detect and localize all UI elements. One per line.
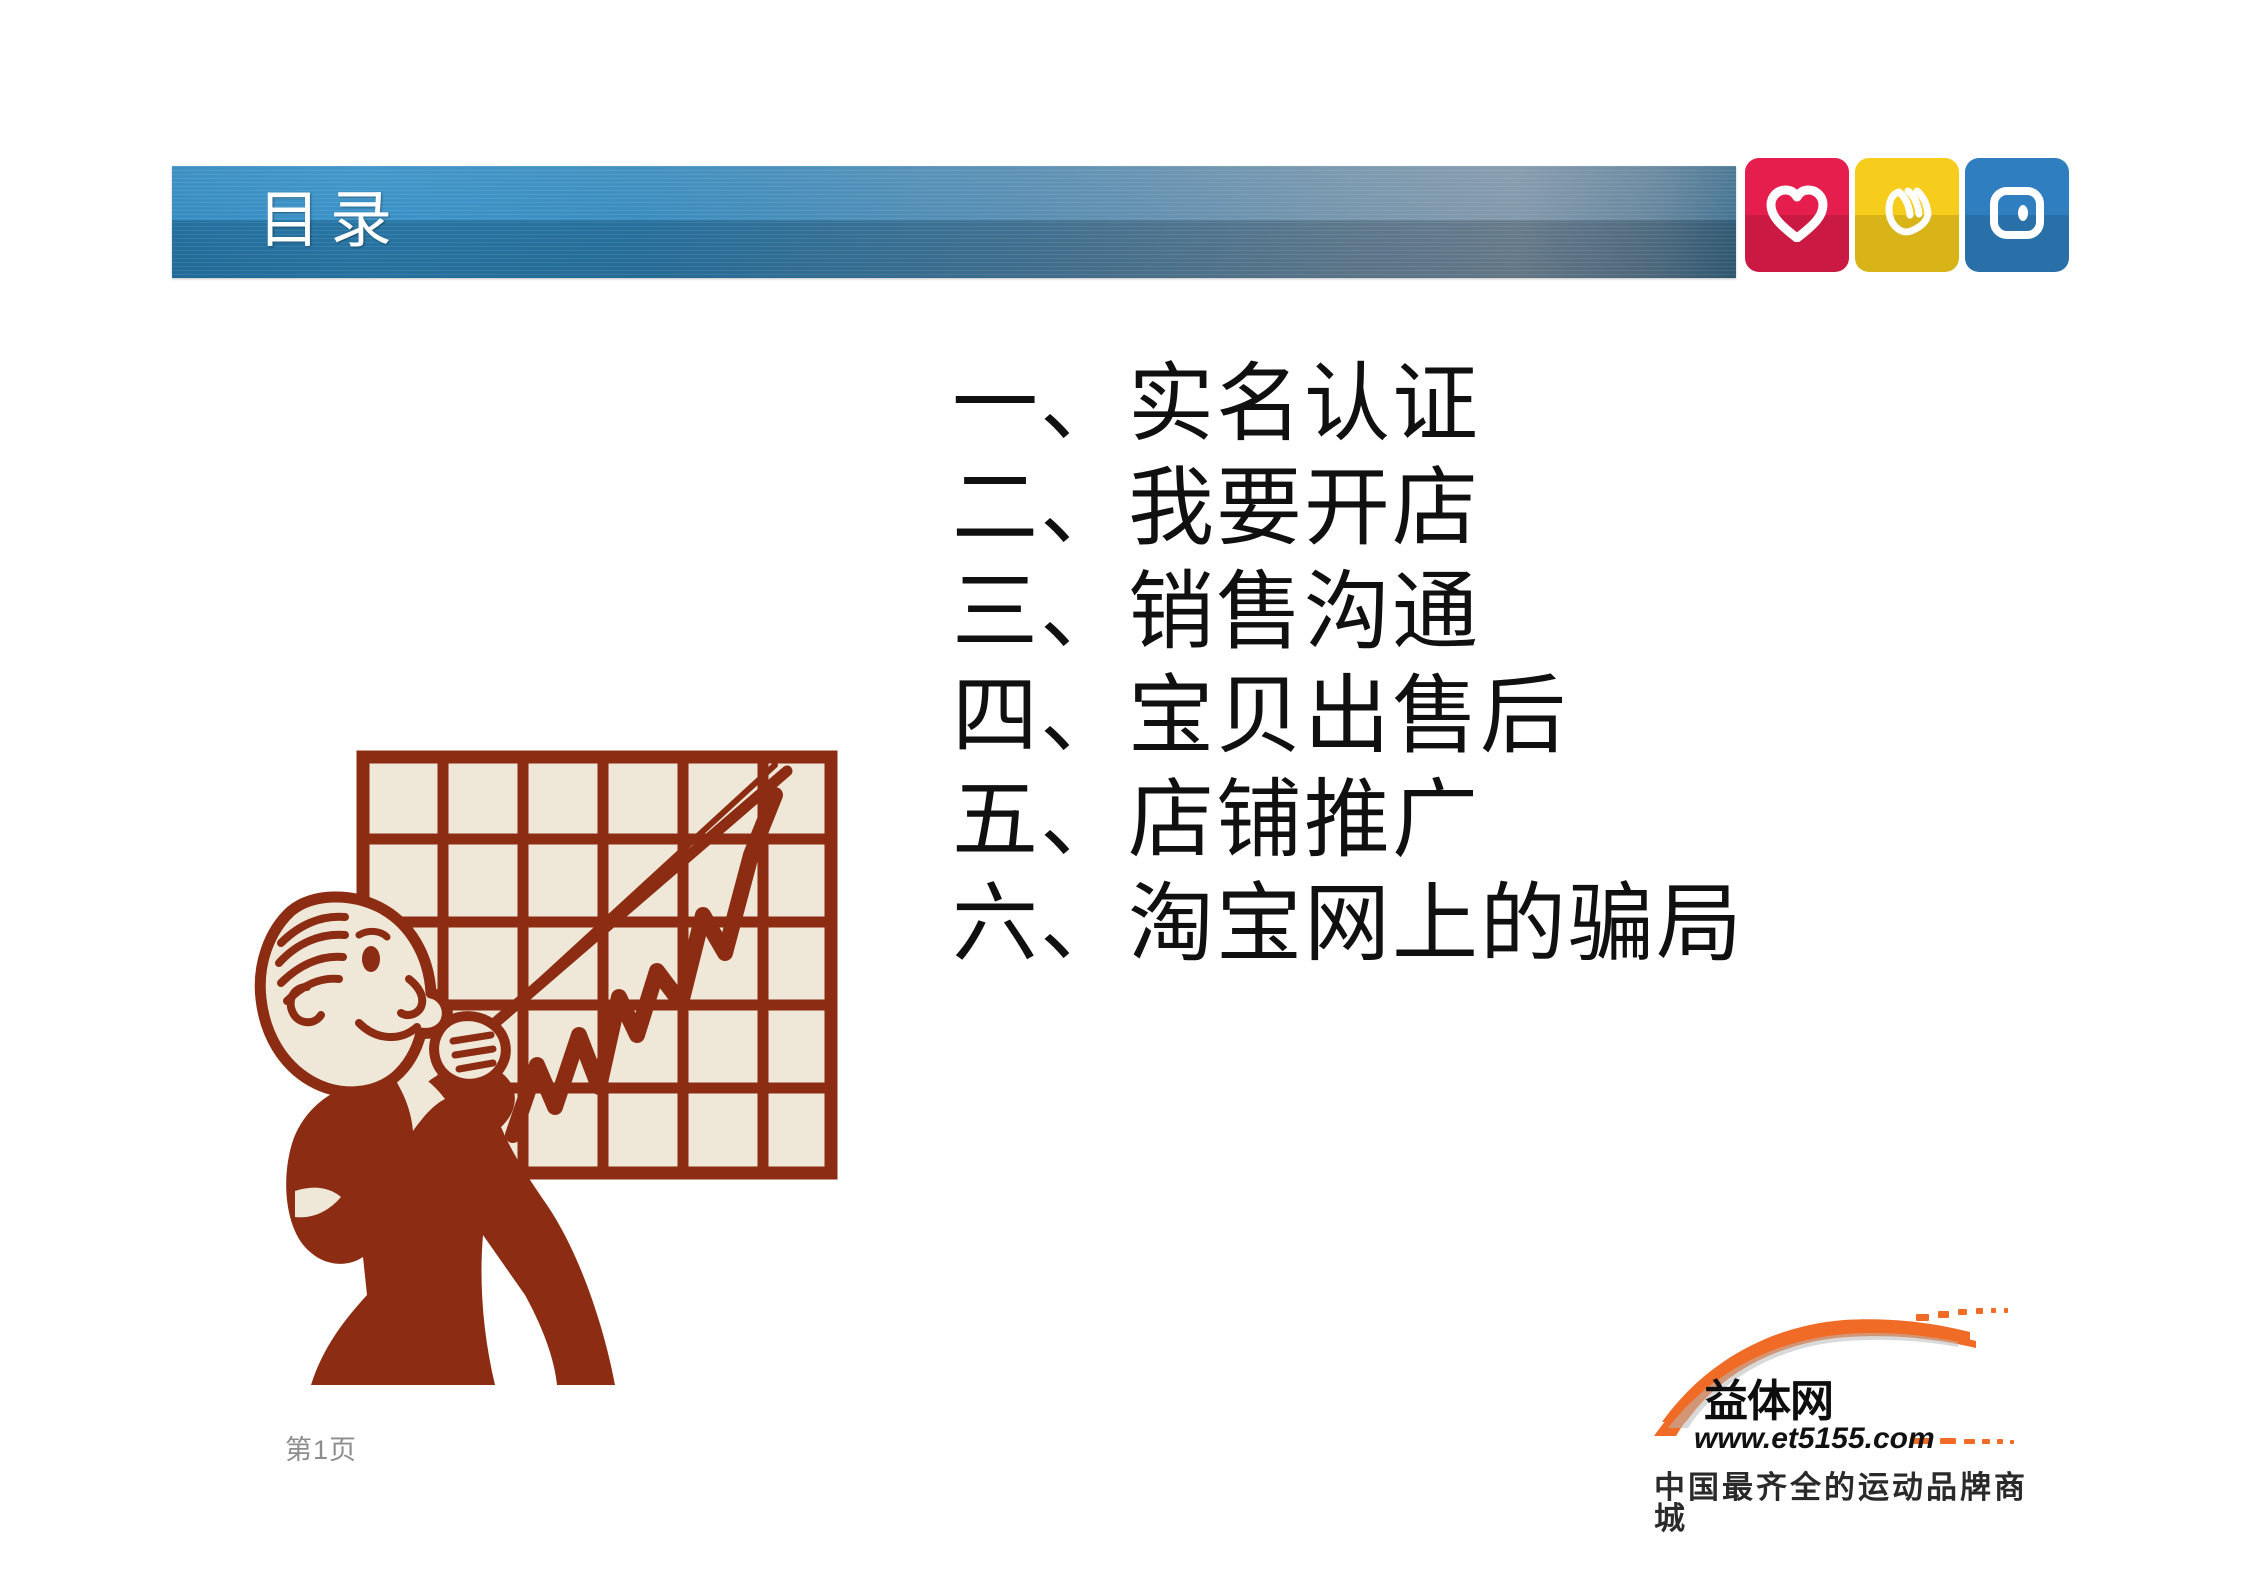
rounded-square-dot-icon-tile[interactable] [1965, 158, 2069, 272]
header-banner: 目录 [172, 166, 1736, 278]
contents-item-3[interactable]: 三、销售沟通 [952, 560, 2152, 664]
contents-list: 一、实名认证 二、我要开店 三、销售沟通 四、宝贝出售后 五、店铺推广 六、淘宝… [952, 352, 2152, 976]
page-number: 第1页 [285, 1428, 357, 1467]
rounded-square-dot-icon [1987, 185, 2047, 246]
slide-canvas: 目录 [0, 0, 2252, 1594]
businessman-chart-illustration [195, 735, 855, 1395]
banner-texture [172, 166, 1736, 278]
hand-wave-icon [1875, 183, 1939, 248]
contents-item-4[interactable]: 四、宝贝出售后 [952, 664, 2152, 768]
contents-item-5[interactable]: 五、店铺推广 [952, 768, 2152, 872]
heart-icon-tile[interactable] [1745, 158, 1849, 272]
logo-brand-name: 益体网 [1704, 1380, 1833, 1424]
contents-item-2[interactable]: 二、我要开店 [952, 456, 2152, 560]
page-title: 目录 [258, 190, 402, 252]
contents-item-6[interactable]: 六、淘宝网上的骗局 [952, 872, 2152, 976]
logo-url: www.et5155.com [1694, 1424, 1935, 1454]
header-icon-group [1745, 158, 2069, 272]
contents-item-1[interactable]: 一、实名认证 [952, 352, 2152, 456]
site-logo[interactable]: 益体网 www.et5155.com 中国最齐全的运动品牌商城 [1648, 1296, 2048, 1456]
logo-tagline: 中国最齐全的运动品牌商城 [1654, 1472, 2048, 1534]
hand-wave-icon-tile[interactable] [1855, 158, 1959, 272]
heart-icon [1766, 184, 1828, 247]
